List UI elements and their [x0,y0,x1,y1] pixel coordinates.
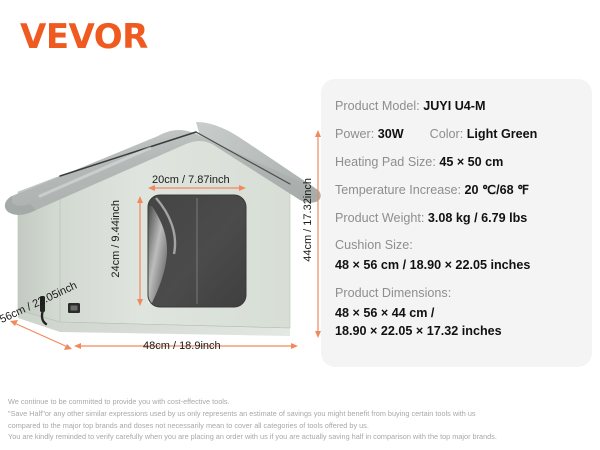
dimension-label-door-height: 24cm / 9.44inch [110,200,122,278]
disclaimer-line-4: You are kindly reminded to verify carefu… [8,431,594,443]
disclaimer-line-1: We continue to be committed to provide y… [8,396,594,408]
spec-value-product-weight: 3.08 kg / 6.79 lbs [428,211,527,225]
disclaimer-line-3: compared to the major top brands and dos… [8,420,594,432]
spec-label-product-model: Product Model: [335,99,420,113]
spec-label-color: Color: [430,127,464,141]
disclaimer-line-2: "Save Half"or any other similar expressi… [8,408,594,420]
spec-value-temperature-increase: 20 ℃/68 ℉ [465,183,530,197]
spec-value-heating-pad-size: 45 × 50 cm [439,155,503,169]
dimension-label-width: 48cm / 18.9inch [143,340,221,352]
spec-label-temperature-increase: Temperature Increase: [335,183,461,197]
product-illustration [0,110,330,365]
spec-label-cushion-size: Cushion Size: [335,238,413,252]
disclaimer-text: We continue to be committed to provide y… [8,396,594,443]
spec-value-product-dimensions-cm: 48 × 56 × 44 cm / [335,305,584,322]
specification-panel: Product Model: JUYI U4-M Power: 30W Colo… [321,79,592,367]
spec-value-cushion-size: 48 × 56 cm / 18.90 × 22.05 inches [335,257,584,274]
spec-row-product-weight: Product Weight: 3.08 kg / 6.79 lbs [335,210,584,227]
spec-label-product-dimensions: Product Dimensions: [335,286,451,300]
spec-row-product-dimensions: Product Dimensions: 48 × 56 × 44 cm / 18… [335,285,584,340]
house-door-mesh [148,195,246,307]
dimension-label-total-height: 44cm / 17.32inch [302,178,314,262]
spec-label-product-weight: Product Weight: [335,211,424,225]
spec-label-power: Power: [335,127,374,141]
spec-group-power: Power: 30W [335,126,404,143]
power-port [68,303,80,313]
spec-label-heating-pad-size: Heating Pad Size: [335,155,436,169]
spec-row-power-color: Power: 30W Color: Light Green [335,126,584,143]
specification-list: Product Model: JUYI U4-M Power: 30W Colo… [335,98,584,340]
spec-value-color: Light Green [467,127,538,141]
spec-row-cushion-size: Cushion Size: 48 × 56 cm / 18.90 × 22.05… [335,237,584,274]
dimension-label-door-width: 20cm / 7.87inch [152,174,230,186]
spec-group-color: Color: Light Green [430,126,538,143]
spec-value-product-dimensions-inches: 18.90 × 22.05 × 17.32 inches [335,323,584,340]
spec-row-product-model: Product Model: JUYI U4-M [335,98,584,115]
vevor-brand-logo: VEVOR [20,20,148,54]
spec-row-heating-pad-size: Heating Pad Size: 45 × 50 cm [335,154,584,171]
spec-row-temperature-increase: Temperature Increase: 20 ℃/68 ℉ [335,182,584,199]
spec-value-power: 30W [378,127,404,141]
spec-value-product-model: JUYI U4-M [423,99,485,113]
